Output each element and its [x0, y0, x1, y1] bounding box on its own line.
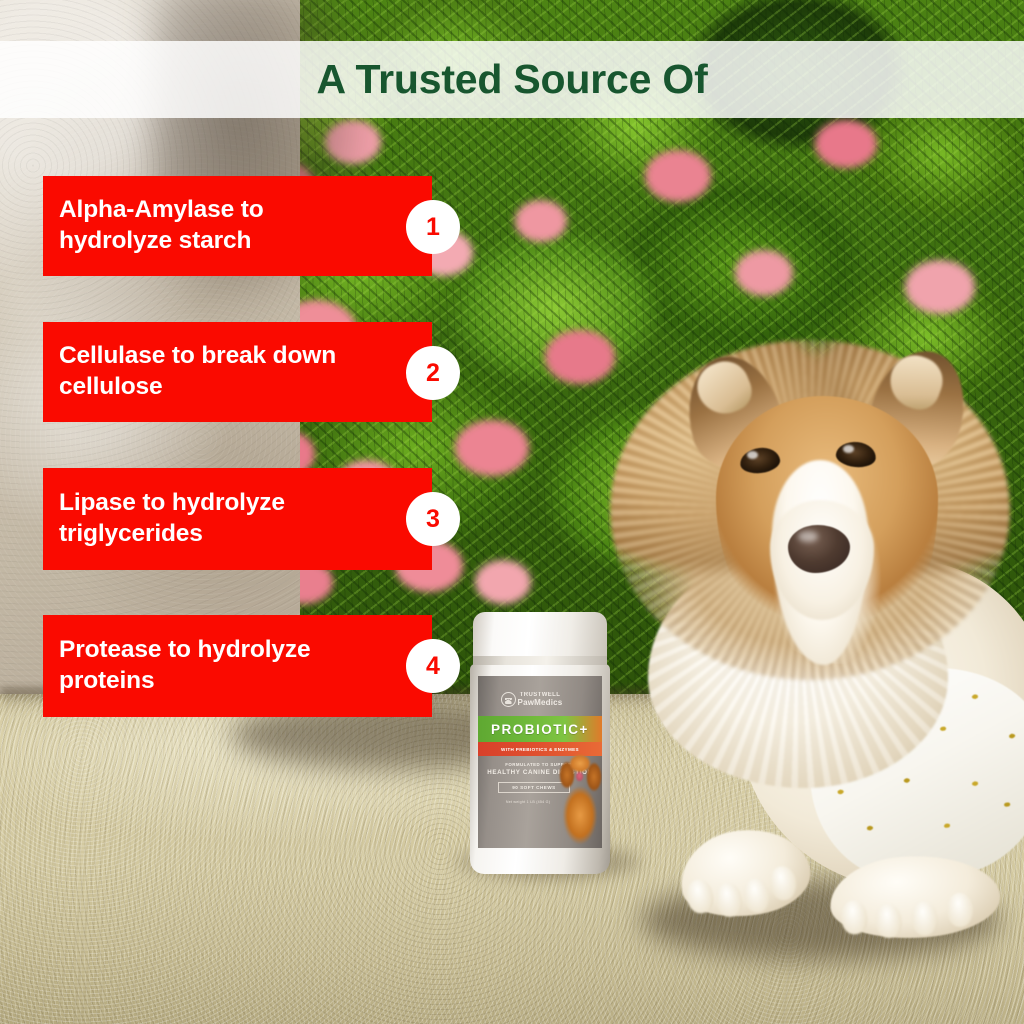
jar-label: TRUSTWELL PawMedics PROBIOTIC+ WITH PREB… [478, 676, 602, 848]
dog-eye-highlight-left [747, 451, 758, 459]
sheltie-dog [620, 310, 1024, 950]
product-name-band: PROBIOTIC+ [478, 716, 602, 742]
label-dog-illustration [554, 750, 602, 846]
callout-3-badge: 3 [406, 492, 460, 546]
product-name: PROBIOTIC+ [491, 722, 589, 737]
callout-2-badge: 2 [406, 346, 460, 400]
chew-count: 90 SOFT CHEWS [512, 785, 556, 790]
product-jar: TRUSTWELL PawMedics PROBIOTIC+ WITH PREB… [470, 612, 610, 874]
callout-4: Protease to hydrolyze proteins [43, 615, 432, 717]
jar-lid-seam [473, 656, 607, 665]
callout-1: Alpha-Amylase to hydrolyze starch [43, 176, 432, 276]
callout-4-text: Protease to hydrolyze proteins [43, 635, 432, 697]
callout-2-text: Cellulase to break down cellulose [43, 341, 432, 403]
promo-image: TRUSTWELL PawMedics PROBIOTIC+ WITH PREB… [0, 0, 1024, 1024]
dog-eye-highlight-right [843, 445, 854, 453]
callout-4-badge: 4 [406, 639, 460, 693]
callout-1-text: Alpha-Amylase to hydrolyze starch [43, 195, 432, 257]
brand-lockup: TRUSTWELL PawMedics [478, 692, 602, 708]
page-title: A Trusted Source Of [316, 56, 707, 103]
dog-nose-highlight [798, 531, 818, 542]
callout-3-text: Lipase to hydrolyze triglycerides [43, 488, 432, 550]
callout-3: Lipase to hydrolyze triglycerides [43, 468, 432, 570]
brand-line-2: PawMedics [518, 698, 563, 707]
header-band: A Trusted Source Of [0, 41, 1024, 118]
callout-1-badge: 1 [406, 200, 460, 254]
callout-2: Cellulase to break down cellulose [43, 322, 432, 422]
